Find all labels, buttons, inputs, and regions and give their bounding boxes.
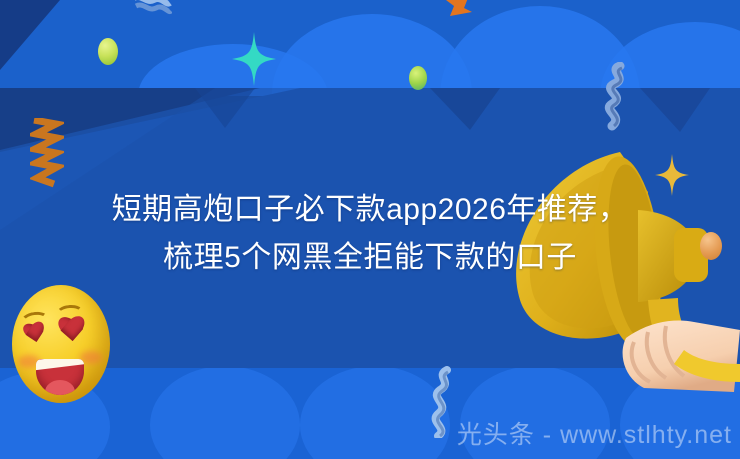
ribbon-orange-zigzag-icon [30, 118, 64, 190]
heart-eyes-emoji-icon [12, 285, 110, 403]
emoji-mouth [36, 359, 84, 395]
emoji-heart-eye-right [55, 316, 89, 348]
headline-line-1: 短期高炮口子必下款app2026年推荐， [112, 193, 629, 226]
star-teal-icon [232, 32, 276, 86]
site-watermark: 光头条 - www.stlhty.net [457, 415, 732, 451]
emoji-tongue [45, 380, 75, 395]
ribbon-blue-spiral-right-icon [598, 62, 638, 132]
ribbon-blue-spiral-top-icon [128, 0, 172, 30]
headline-line-2: 梳理5个网黑全拒能下款的口子 [0, 234, 740, 282]
banner-headline: 短期高炮口子必下款app2026年推荐， 梳理5个网黑全拒能下款的口子 [0, 186, 740, 282]
confetti-orange-flag-icon [442, 0, 478, 22]
balloon-green-right-icon [409, 66, 427, 90]
emoji-teeth [36, 359, 84, 370]
ribbon-blue-spiral-bottom-icon [425, 366, 459, 438]
balloon-green-left-icon [98, 38, 118, 65]
emoji-heart-eye-left [20, 321, 50, 350]
promo-banner: 短期高炮口子必下款app2026年推荐， 梳理5个网黑全拒能下款的口子 光头条 … [0, 0, 740, 459]
